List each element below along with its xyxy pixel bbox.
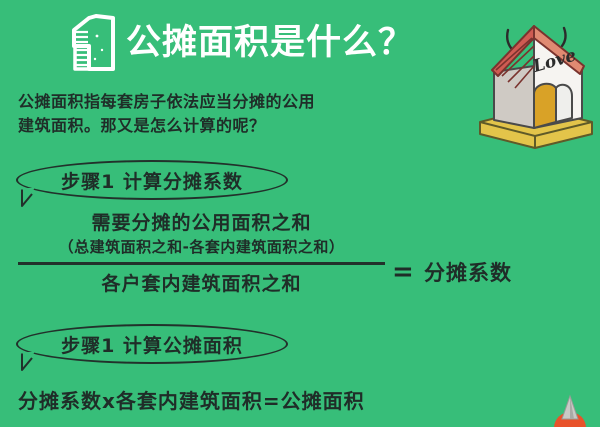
poster-canvas: 公摊面积是什么？ 公摊面积指每套房子依法应当分摊的公用 建筑面积。那又是怎么计算… bbox=[0, 0, 600, 427]
fraction: 需要分摊的公用面积之和 （总建筑面积之和-各套内建筑面积之和） 各户套内建筑面积… bbox=[14, 210, 389, 297]
fraction-bar bbox=[18, 262, 385, 265]
step-1-result-label: 分摊系数 bbox=[424, 260, 512, 286]
step-1-badge-label: 步骤1 计算分摊系数 bbox=[61, 167, 243, 194]
number-one-logo-icon bbox=[66, 14, 122, 72]
page-title: 公摊面积是什么？ bbox=[126, 18, 486, 68]
step-2-badge-tail-icon bbox=[20, 352, 38, 372]
doghouse-illustration: Love bbox=[472, 8, 598, 150]
step-1-badge: 步骤1 计算分摊系数 bbox=[16, 160, 288, 200]
step-1-badge-tail-icon bbox=[20, 188, 38, 208]
step-2-badge: 步骤1 计算公摊面积 bbox=[16, 324, 288, 364]
fraction-numerator-main: 需要分摊的公用面积之和 bbox=[14, 210, 389, 236]
fraction-denominator: 各户套内建筑面积之和 bbox=[14, 271, 389, 297]
equals-sign: = bbox=[392, 259, 414, 285]
party-hat-ornament-icon bbox=[548, 392, 592, 427]
step-2-badge-label: 步骤1 计算公摊面积 bbox=[61, 331, 243, 358]
fraction-numerator-sub: （总建筑面积之和-各套内建筑面积之和） bbox=[14, 236, 389, 258]
step-2-formula: 分摊系数x各套内建筑面积=公摊面积 bbox=[18, 387, 365, 415]
step-1-formula: 需要分摊的公用面积之和 （总建筑面积之和-各套内建筑面积之和） 各户套内建筑面积… bbox=[0, 210, 600, 310]
intro-line-1: 公摊面积指每套房子依法应当分摊的公用 bbox=[18, 90, 488, 114]
intro-paragraph: 公摊面积指每套房子依法应当分摊的公用 建筑面积。那又是怎么计算的呢？ bbox=[18, 90, 488, 138]
intro-line-2: 建筑面积。那又是怎么计算的呢？ bbox=[18, 114, 488, 138]
